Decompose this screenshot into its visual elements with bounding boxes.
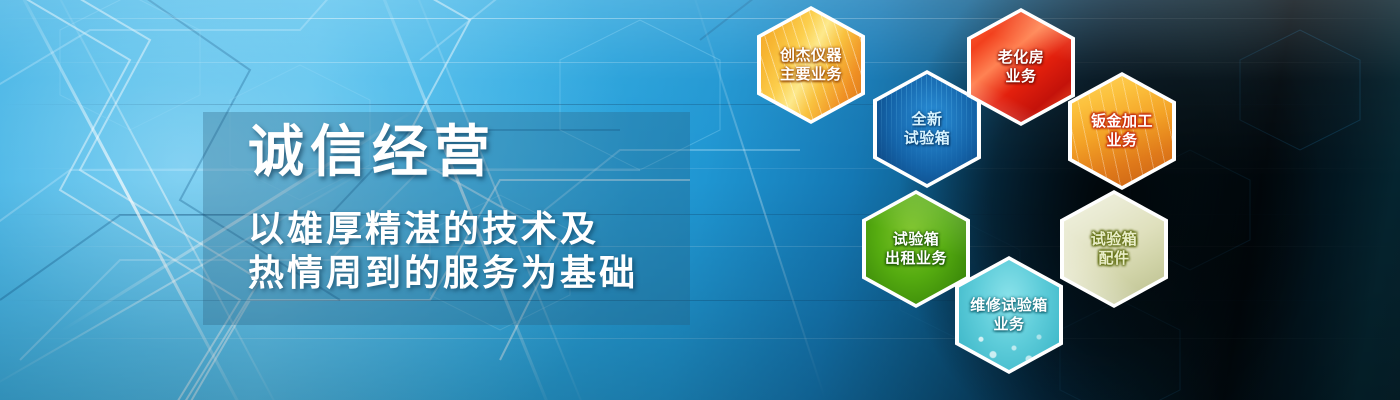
- hex-chamber-parts-label: 试验箱 配件: [1091, 230, 1138, 268]
- hex-chamber-repair-label: 维修试验箱 业务: [970, 296, 1048, 334]
- promo-banner: 诚信经营 以雄厚精湛的技术及 热情周到的服务为基础 创杰仪器 主要业务 全新 试…: [0, 0, 1400, 400]
- hex-sheet-metal[interactable]: 钣金加工 业务: [1068, 72, 1176, 190]
- hex-chamber-parts[interactable]: 试验箱 配件: [1060, 190, 1168, 308]
- hex-new-test-chamber[interactable]: 全新 试验箱: [873, 70, 981, 188]
- hex-new-test-chamber-label: 全新 试验箱: [904, 110, 951, 148]
- hex-chamber-repair[interactable]: 维修试验箱 业务: [955, 256, 1063, 374]
- hex-aging-room-label: 老化房 业务: [998, 48, 1045, 86]
- hex-chamber-rental-label: 试验箱 出租业务: [885, 230, 947, 268]
- hex-chamber-rental[interactable]: 试验箱 出租业务: [862, 190, 970, 308]
- hex-sheet-metal-label: 钣金加工 业务: [1091, 112, 1153, 150]
- hex-main-business[interactable]: 创杰仪器 主要业务: [757, 6, 865, 124]
- service-hexagon-cluster: 创杰仪器 主要业务 全新 试验箱 老化房 业务 钣金加工 业务 试验箱 出租业务…: [0, 0, 1400, 400]
- hex-main-business-label: 创杰仪器 主要业务: [780, 46, 842, 84]
- hex-aging-room[interactable]: 老化房 业务: [967, 8, 1075, 126]
